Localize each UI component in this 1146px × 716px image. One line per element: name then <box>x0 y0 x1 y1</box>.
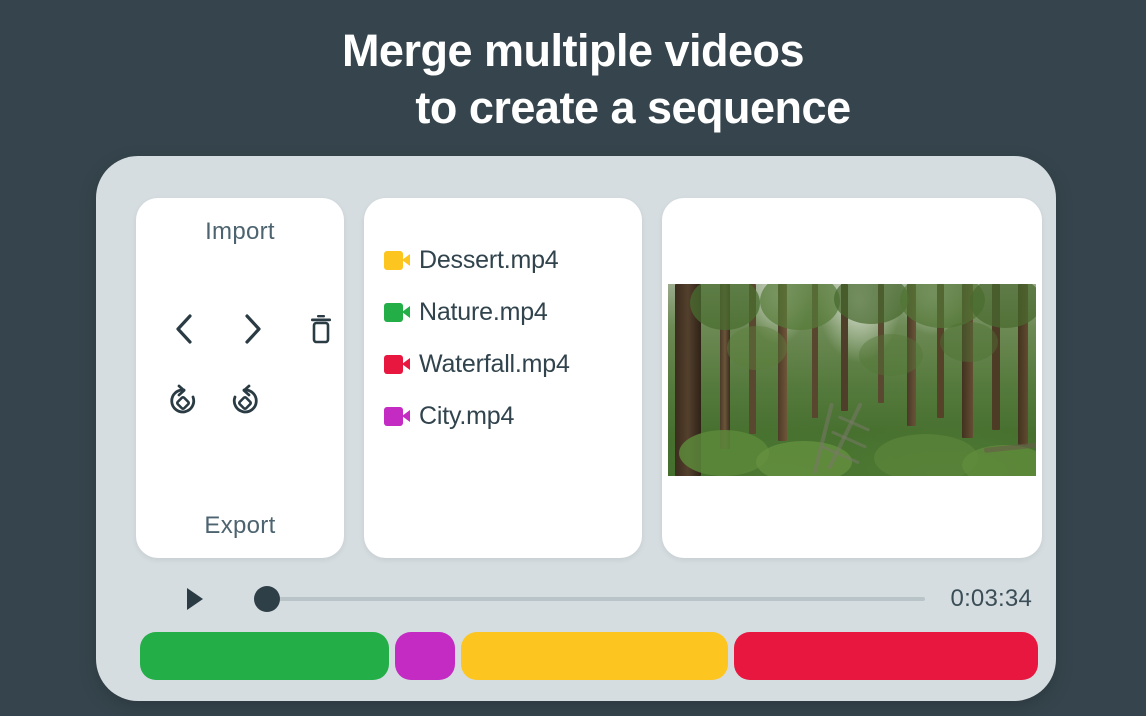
video-thumbnail[interactable] <box>668 284 1036 476</box>
file-name: City.mp4 <box>419 402 514 431</box>
file-list-panel: Dessert.mp4 Nature.mp4 Waterfall.mp4 <box>364 198 642 558</box>
video-file-icon <box>384 303 410 322</box>
trash-icon <box>307 313 335 345</box>
play-icon <box>187 588 203 610</box>
page-title: Merge multiple videos to create a sequen… <box>0 22 1146 136</box>
import-button[interactable]: Import <box>136 218 344 246</box>
chevron-right-icon <box>239 312 265 346</box>
page-title-line-2: to create a sequence <box>0 79 1146 136</box>
seek-slider[interactable] <box>254 584 925 614</box>
video-file-icon <box>384 407 410 426</box>
timeline-clip-city[interactable] <box>395 632 455 680</box>
video-preview-panel <box>662 198 1042 558</box>
list-item[interactable]: City.mp4 <box>384 390 632 442</box>
chevron-left-icon <box>172 312 198 346</box>
panels-row: Import <box>136 198 1042 558</box>
seek-handle[interactable] <box>254 586 280 612</box>
video-file-icon <box>384 251 410 270</box>
page-title-line-1: Merge multiple videos <box>0 22 1146 79</box>
tools-row-rotation <box>136 378 344 424</box>
tools-row-navigation <box>136 306 344 352</box>
previous-button[interactable] <box>162 306 209 352</box>
file-name: Dessert.mp4 <box>419 246 559 275</box>
rotate-left-icon <box>167 384 201 418</box>
play-button[interactable] <box>178 582 212 616</box>
list-item[interactable]: Dessert.mp4 <box>384 234 632 286</box>
tools-panel: Import <box>136 198 344 558</box>
seek-track <box>264 597 925 601</box>
rotate-right-button[interactable] <box>220 378 268 424</box>
timeline-clip-nature[interactable] <box>140 632 389 680</box>
delete-button[interactable] <box>297 306 344 352</box>
video-file-icon <box>384 355 410 374</box>
file-name: Nature.mp4 <box>419 298 548 327</box>
timeline-track <box>140 632 1038 680</box>
time-display: 0:03:34 <box>951 585 1032 613</box>
timeline-clip-waterfall[interactable] <box>734 632 1038 680</box>
forest-scene <box>668 284 1036 476</box>
rotate-left-button[interactable] <box>160 378 208 424</box>
file-name: Waterfall.mp4 <box>419 350 570 379</box>
list-item[interactable]: Waterfall.mp4 <box>384 338 632 390</box>
next-button[interactable] <box>229 306 276 352</box>
playback-controls: 0:03:34 <box>136 576 1042 622</box>
timeline-clip-dessert[interactable] <box>461 632 728 680</box>
export-button[interactable]: Export <box>136 512 344 540</box>
rotate-right-icon <box>227 384 261 418</box>
file-list: Dessert.mp4 Nature.mp4 Waterfall.mp4 <box>384 234 632 442</box>
app-window: Import <box>96 156 1056 701</box>
list-item[interactable]: Nature.mp4 <box>384 286 632 338</box>
